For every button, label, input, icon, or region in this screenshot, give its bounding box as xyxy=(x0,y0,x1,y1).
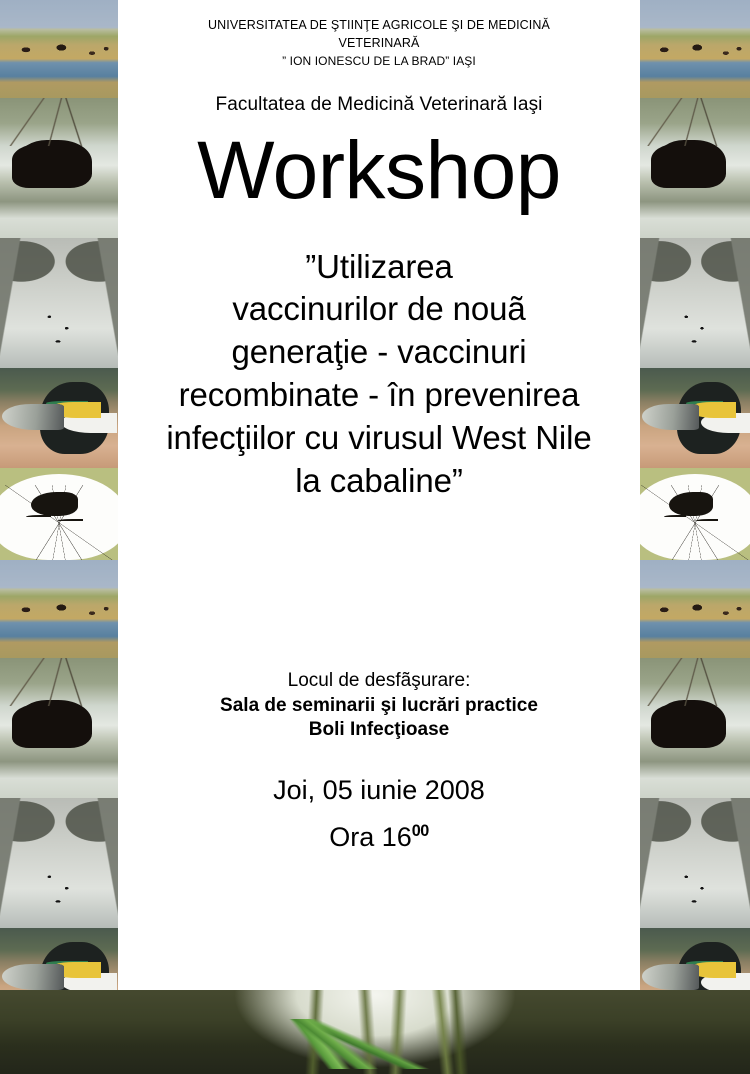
event-time: Ora 1600 xyxy=(118,818,640,857)
reed-marsh-panorama-photo xyxy=(0,990,750,1074)
venue-block: Locul de desfãşurare: Sala de seminarii … xyxy=(118,669,640,743)
mosquito-photo xyxy=(640,468,750,560)
winter-thicket-channel-photo xyxy=(640,238,750,368)
left-photo-strip xyxy=(0,0,118,990)
marsh-horses-photo xyxy=(0,0,118,98)
cormorant-in-hand-photo xyxy=(0,928,118,990)
subject-line-4: recombinate - în prevenirea xyxy=(126,374,632,417)
subject-title: ”Utilizarea vaccinurilor de nouã generaţ… xyxy=(118,246,640,503)
black-horse-in-water-photo xyxy=(640,98,750,238)
mosquito-legs-icon xyxy=(0,485,118,560)
black-horse-in-water-photo xyxy=(0,98,118,238)
faculty-name: Facultatea de Medicină Veterinară Iaşi xyxy=(118,94,640,116)
event-date: Joi, 05 iunie 2008 xyxy=(118,771,640,810)
subject-line-3: generaţie - vaccinuri xyxy=(126,331,632,374)
subject-line-6: la cabaline” xyxy=(126,460,632,503)
subject-line-5: infecţiilor cu virusul West Nile xyxy=(126,417,632,460)
poster: UNIVERSITATEA DE ŞTIINŢE AGRICOLE ŞI DE … xyxy=(0,0,750,1074)
venue-room: Sala de seminarii şi lucrări practice xyxy=(118,694,640,719)
right-photo-strip xyxy=(640,0,750,990)
datetime-block: Joi, 05 iunie 2008 Ora 1600 xyxy=(118,771,640,857)
subject-line-2: vaccinurilor de nouã xyxy=(126,288,632,331)
event-type-title: Workshop xyxy=(118,130,640,212)
cormorant-in-hand-photo xyxy=(640,928,750,990)
marsh-horses-photo xyxy=(0,560,118,658)
marsh-horses-photo xyxy=(640,0,750,98)
organization-line-3: ” ION IONESCU DE LA BRAD” IAŞI xyxy=(118,53,640,70)
organization-line-2: VETERINARĂ xyxy=(118,35,640,53)
cormorant-in-hand-photo xyxy=(0,368,118,468)
mosquito-legs-icon xyxy=(640,485,750,560)
black-horse-in-water-photo xyxy=(0,658,118,798)
winter-thicket-channel-photo xyxy=(640,798,750,928)
venue-department: Boli Infecţioase xyxy=(118,718,640,743)
organization-header: UNIVERSITATEA DE ŞTIINŢE AGRICOLE ŞI DE … xyxy=(118,0,640,70)
cormorant-in-hand-photo xyxy=(640,368,750,468)
organization-line-1: UNIVERSITATEA DE ŞTIINŢE AGRICOLE ŞI DE … xyxy=(118,17,640,35)
event-time-hour: Ora 16 xyxy=(329,822,412,852)
mosquito-photo xyxy=(0,468,118,560)
poster-content: UNIVERSITATEA DE ŞTIINŢE AGRICOLE ŞI DE … xyxy=(118,0,640,990)
winter-thicket-channel-photo xyxy=(0,798,118,928)
marsh-horses-photo xyxy=(640,560,750,658)
subject-line-1: ”Utilizarea xyxy=(126,246,632,289)
event-time-minutes: 00 xyxy=(412,822,429,840)
venue-label: Locul de desfãşurare: xyxy=(118,669,640,694)
black-horse-in-water-photo xyxy=(640,658,750,798)
winter-thicket-channel-photo xyxy=(0,238,118,368)
